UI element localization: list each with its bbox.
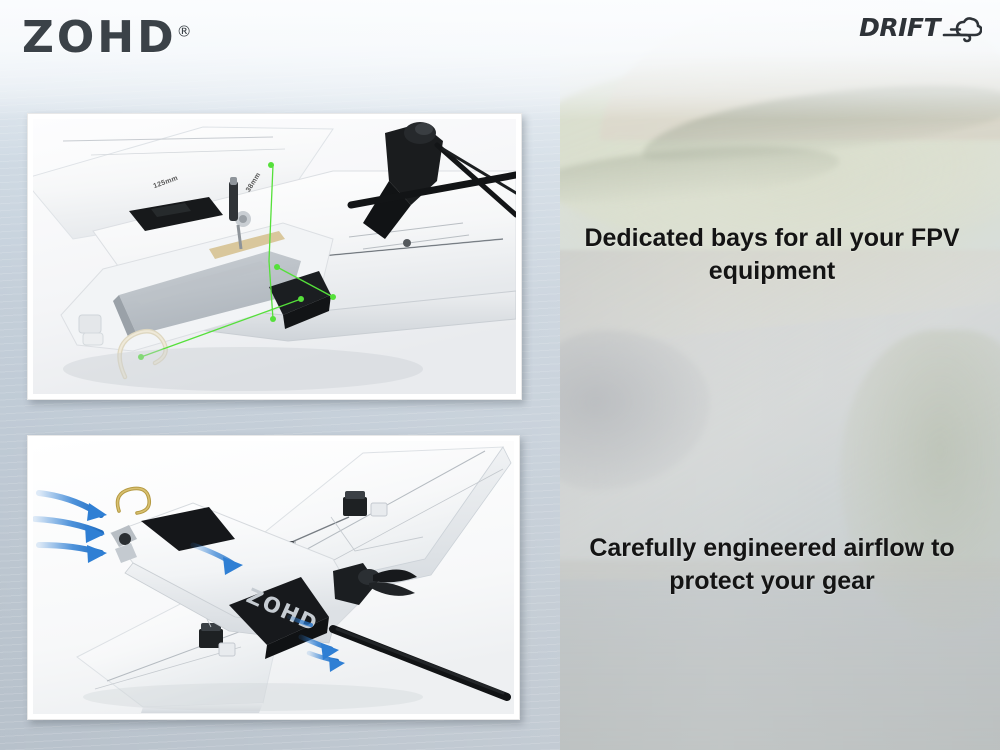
flying-wing-airflow-illustration: ZOHD [33,441,514,714]
cloud-wind-icon [942,10,982,44]
zohd-brand-logo: ZOHD® [22,12,192,63]
product-feature-slide: ZOHD® DRIFT [0,0,1000,750]
callout-bays-text: Dedicated bays for all your FPV equipmen… [562,222,982,287]
photo-card-airflow: ZOHD [27,435,520,720]
flying-wing-bay-illustration [33,119,516,394]
registered-trademark-icon: ® [177,22,192,40]
callout-airflow-text: Carefully engineered airflow to protect … [562,532,982,597]
zohd-wordmark: ZOHD [22,12,177,63]
photo-card-bays: 125mm 38mm [27,113,522,400]
drift-wordmark: DRIFT [859,13,940,42]
drift-product-logo: DRIFT [859,10,982,44]
photo-airflow-image: ZOHD [33,441,514,714]
photo-bays-image: 125mm 38mm [33,119,516,394]
